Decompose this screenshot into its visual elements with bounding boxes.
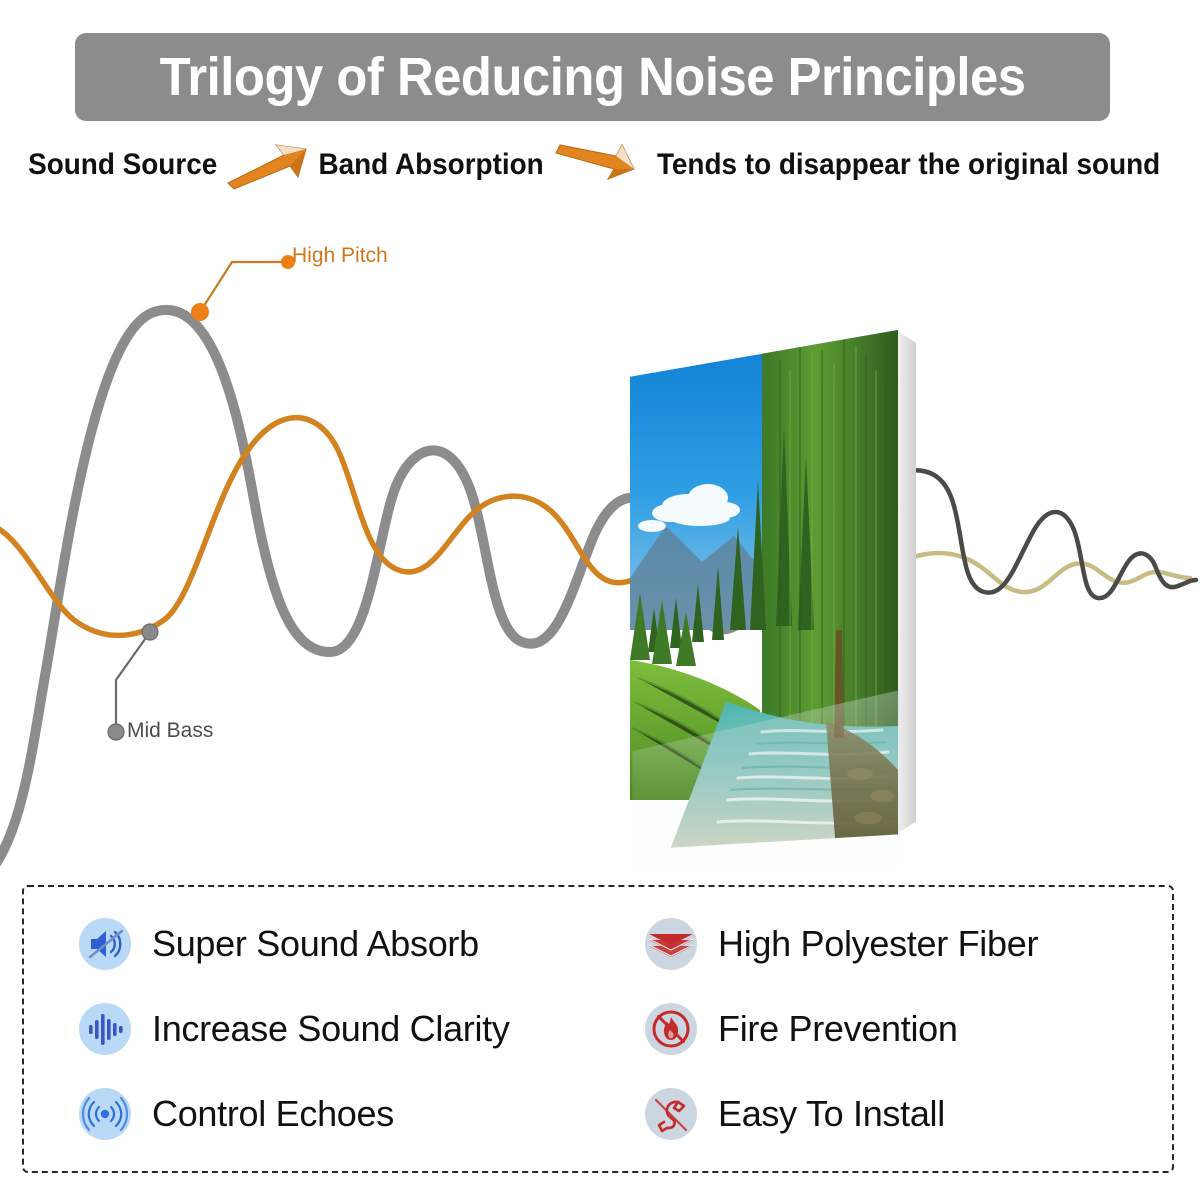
- feature-label: Control Echoes: [152, 1093, 394, 1135]
- feature-label: Super Sound Absorb: [152, 923, 479, 965]
- no-fire-icon: [644, 1002, 698, 1056]
- feature-fire-prevention: Fire Prevention: [644, 1002, 1172, 1056]
- flow-step-disappear: Tends to disappear the original sound: [657, 148, 1160, 182]
- sound-bars-icon: [78, 1002, 132, 1056]
- echo-waves-icon: [78, 1087, 132, 1141]
- flow-step-sound-source: Sound Source: [28, 148, 217, 182]
- page-title: Trilogy of Reducing Noise Principles: [160, 50, 1026, 104]
- feature-label: High Polyester Fiber: [718, 923, 1038, 965]
- feature-high-polyester-fiber: High Polyester Fiber: [644, 917, 1172, 971]
- wrench-icon: [644, 1087, 698, 1141]
- feature-label: Increase Sound Clarity: [152, 1008, 510, 1050]
- high-pitch-leader: [191, 255, 295, 321]
- flow-row: Sound Source Band Absorption Tends to di…: [0, 136, 1200, 194]
- attenuated-tan-wave: [905, 553, 1190, 592]
- feature-label: Easy To Install: [718, 1093, 945, 1135]
- infographic-stage: Trilogy of Reducing Noise Principles Sou…: [0, 0, 1200, 1200]
- arrow-down-right-icon: [552, 139, 638, 191]
- feature-control-echoes: Control Echoes: [78, 1087, 606, 1141]
- layered-fiber-icon: [644, 917, 698, 971]
- arrow-up-right-icon: [224, 139, 310, 191]
- callout-high-pitch: High Pitch: [292, 244, 388, 268]
- features-column-right: High Polyester Fiber Fire Prevention: [606, 887, 1172, 1171]
- callout-mid-bass: Mid Bass: [127, 719, 213, 743]
- feature-easy-to-install: Easy To Install: [644, 1087, 1172, 1141]
- title-banner: Trilogy of Reducing Noise Principles: [75, 33, 1110, 121]
- sound-wave-diagram: [0, 200, 1200, 890]
- feature-increase-sound-clarity: Increase Sound Clarity: [78, 1002, 606, 1056]
- features-column-left: Super Sound Absorb Increase Sound Clarit…: [24, 887, 606, 1171]
- mute-speaker-icon: [78, 917, 132, 971]
- feature-super-sound-absorb: Super Sound Absorb: [78, 917, 606, 971]
- features-box: Super Sound Absorb Increase Sound Clarit…: [22, 885, 1174, 1173]
- feature-label: Fire Prevention: [718, 1008, 958, 1050]
- flow-step-band-absorption: Band Absorption: [318, 148, 543, 182]
